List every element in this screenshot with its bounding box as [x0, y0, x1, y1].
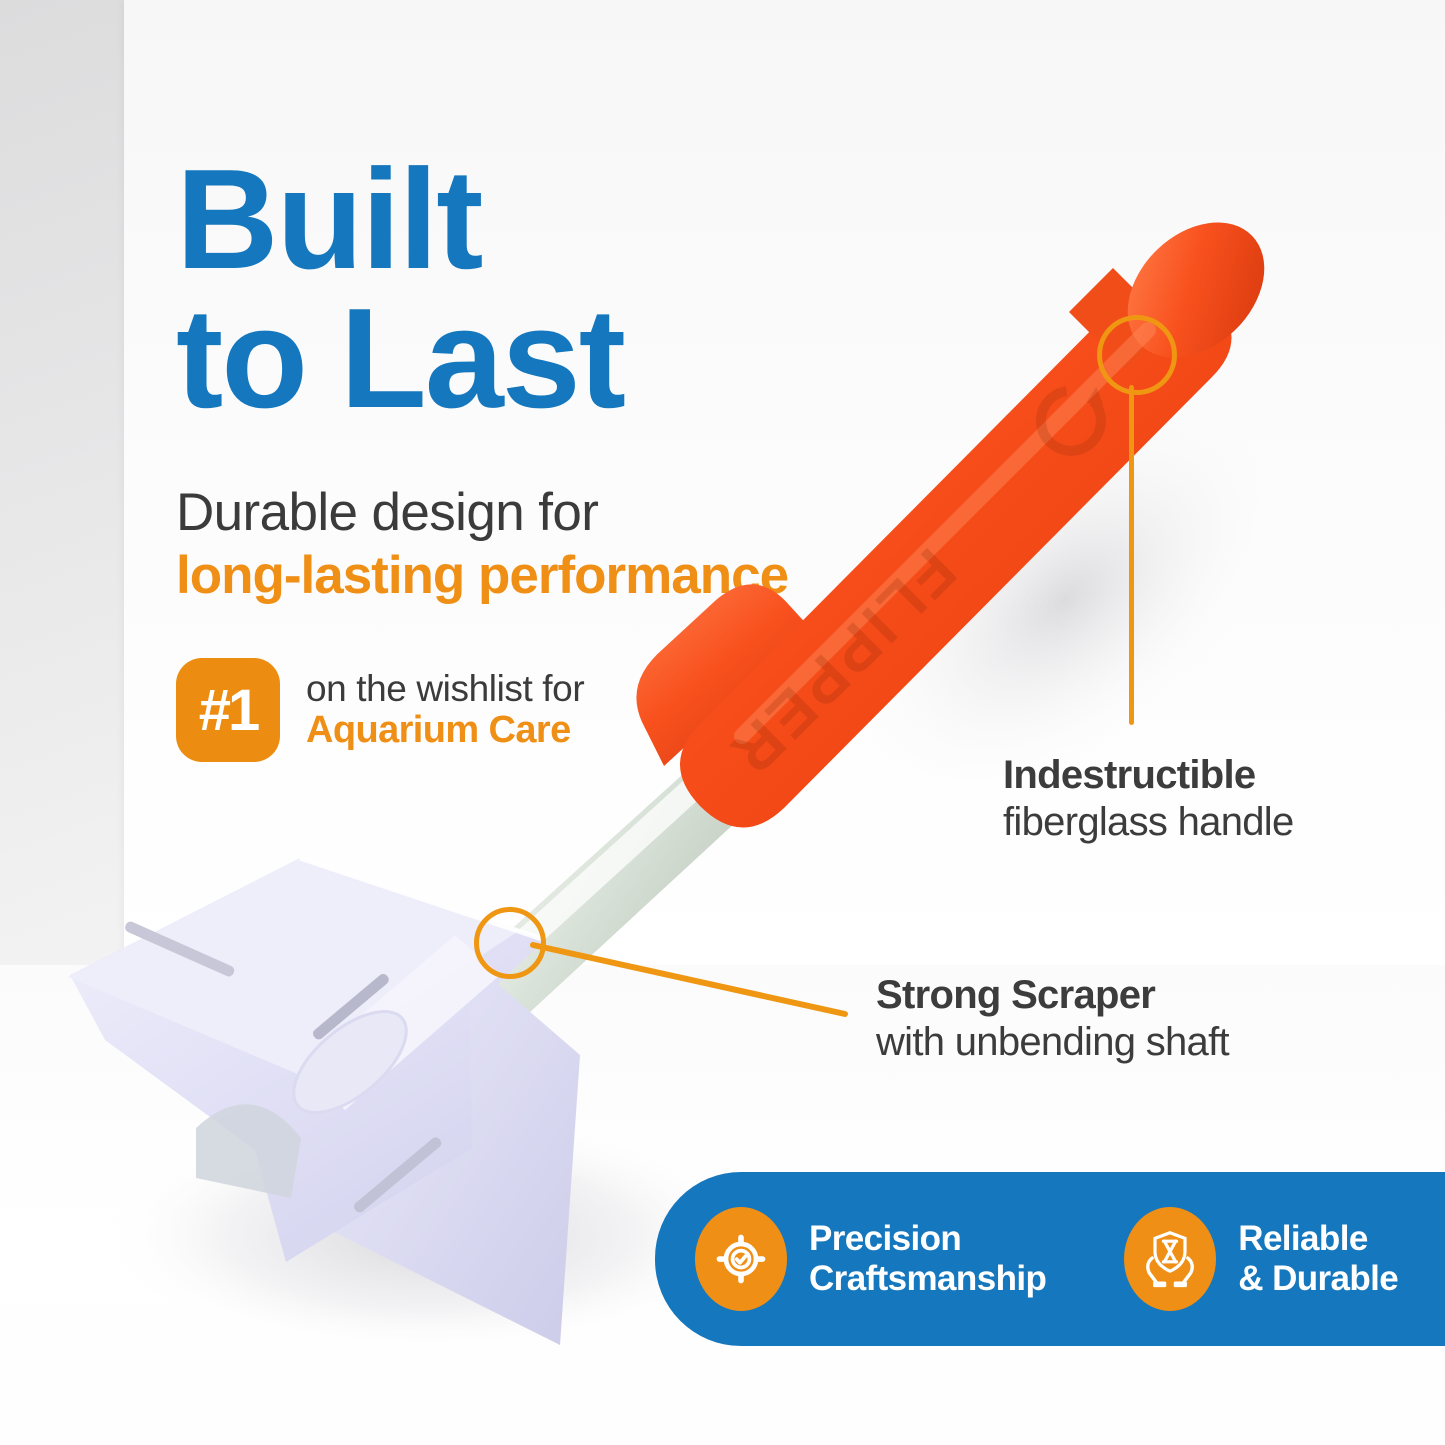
promo-image: Built toLast Durable design for long-las…	[0, 0, 1445, 1445]
precision-target-check-icon	[695, 1207, 787, 1311]
feature-reliable-line-1: Reliable	[1238, 1219, 1398, 1259]
feature-precision-label: Precision Craftsmanship	[809, 1219, 1046, 1300]
headline-line-2-word-1: to	[176, 279, 306, 438]
callout-marker-handle	[1097, 315, 1177, 395]
callout-scraper: Strong Scraper with unbending shaft	[876, 972, 1229, 1066]
callout-handle-title: Indestructible	[1003, 752, 1294, 799]
subheading-line-1: Durable design for	[176, 482, 598, 543]
callout-handle-subtitle: fiberglass handle	[1003, 799, 1294, 846]
callout-leader-handle	[1129, 385, 1134, 725]
background-left-panel	[0, 0, 124, 965]
rank-badge-line-2: Aquarium Care	[306, 709, 584, 752]
headline-line-2-word-2: Last	[340, 279, 624, 438]
rank-badge: #1 on the wishlist for Aquarium Care	[176, 658, 584, 762]
feature-reliable-durable: Reliable & Durable	[1124, 1207, 1398, 1311]
rank-badge-line-1: on the wishlist for	[306, 668, 584, 709]
subheading-line-2: long-lasting performance	[176, 545, 788, 606]
rank-number-chip: #1	[176, 658, 280, 762]
callout-marker-scraper	[474, 907, 546, 979]
headline-line-1: Built	[176, 140, 481, 299]
feature-precision-craftsmanship: Precision Craftsmanship	[695, 1207, 1046, 1311]
callout-handle: Indestructible fiberglass handle	[1003, 752, 1294, 846]
rank-badge-text: on the wishlist for Aquarium Care	[306, 668, 584, 752]
hands-shield-hourglass-icon	[1124, 1207, 1216, 1311]
feature-reliable-label: Reliable & Durable	[1238, 1219, 1398, 1300]
page-title: Built toLast	[176, 150, 876, 428]
feature-banner: Precision Craftsmanship Reliable & Durab…	[655, 1172, 1445, 1346]
feature-precision-line-1: Precision	[809, 1219, 1046, 1259]
callout-scraper-subtitle: with unbending shaft	[876, 1019, 1229, 1066]
feature-reliable-line-2: & Durable	[1238, 1259, 1398, 1299]
callout-scraper-title: Strong Scraper	[876, 972, 1229, 1019]
feature-precision-line-2: Craftsmanship	[809, 1259, 1046, 1299]
